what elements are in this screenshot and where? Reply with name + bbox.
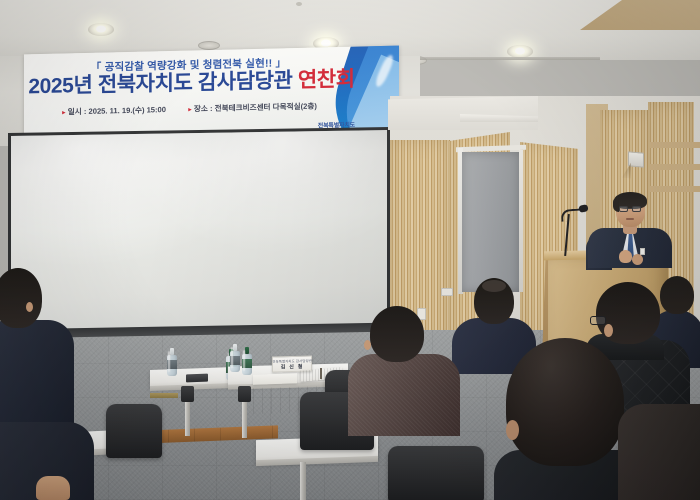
conference-room-photo: 「 공직감찰 역량강화 및 청렴전북 실현!! 」 2025년 전북자치도 감사…	[0, 0, 700, 500]
table-clamp	[181, 386, 194, 402]
placard-name: 김 신 철	[281, 362, 304, 370]
banner-date-label: 일시 :	[68, 107, 87, 116]
presenter	[588, 192, 672, 264]
handout-paper[interactable]	[253, 373, 297, 385]
banner-place-label: 장소 :	[194, 104, 213, 113]
audience-member	[0, 268, 74, 428]
presenter-badge	[640, 248, 645, 255]
floor-plate-icon	[150, 393, 178, 398]
wall-speaker-icon	[628, 151, 644, 167]
chair[interactable]	[388, 446, 484, 500]
table-clamp	[238, 386, 251, 402]
audience-hand	[36, 476, 70, 500]
water-bottle[interactable]	[230, 344, 240, 372]
recessed-downlight-icon	[88, 23, 114, 36]
banner-place-value: 전북테크비즈센터 다목적실(2층)	[215, 102, 317, 113]
banner-title-main: 2025년 전북자치도 감사담당관	[28, 69, 298, 98]
door-soffit	[388, 96, 538, 130]
presenter-glasses-icon	[619, 206, 628, 212]
booklet-spine	[320, 368, 322, 379]
audience-glasses-icon	[590, 316, 606, 325]
presenter-hand	[619, 250, 632, 263]
ceiling-sprinkler-icon	[296, 2, 302, 6]
date-bullet-icon: ▸	[62, 109, 66, 116]
audience-member	[618, 404, 700, 500]
banner-date-value: 2025. 11. 19.(수) 15:00	[89, 105, 167, 116]
water-bottle[interactable]	[242, 347, 252, 375]
place-bullet-icon: ▸	[188, 106, 192, 113]
banner-title-highlight: 연찬회	[298, 68, 355, 92]
water-bottle[interactable]	[167, 348, 177, 376]
wall-trim-band	[650, 142, 700, 148]
entry-door[interactable]	[462, 152, 520, 292]
chair[interactable]	[106, 404, 162, 458]
table-leg	[300, 462, 306, 500]
desk-control-unit[interactable]	[186, 374, 208, 383]
ceiling-vent-icon	[198, 41, 220, 50]
door-jamb-right	[519, 150, 523, 292]
audience-member	[348, 306, 460, 436]
